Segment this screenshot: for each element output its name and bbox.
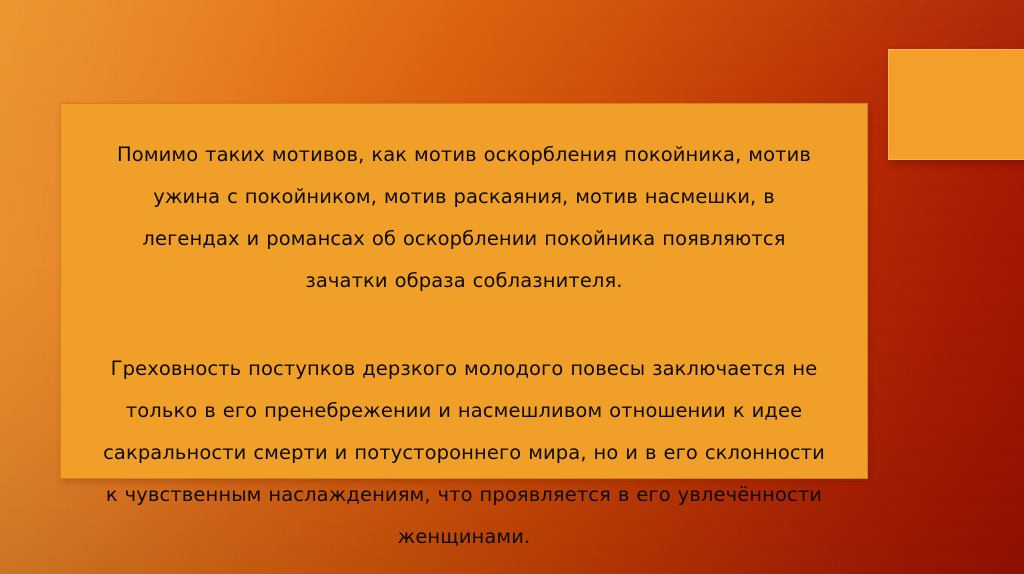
body-paragraph-1: Помимо таких мотивов, как мотив оскорбле…	[83, 134, 845, 302]
presentation-slide: Помимо таких мотивов, как мотив оскорбле…	[0, 0, 1024, 574]
content-panel: Помимо таких мотивов, как мотив оскорбле…	[60, 103, 868, 479]
decorative-accent-rectangle	[888, 49, 1024, 160]
body-paragraph-2: Греховность поступков дерзкого молодого …	[83, 348, 845, 558]
